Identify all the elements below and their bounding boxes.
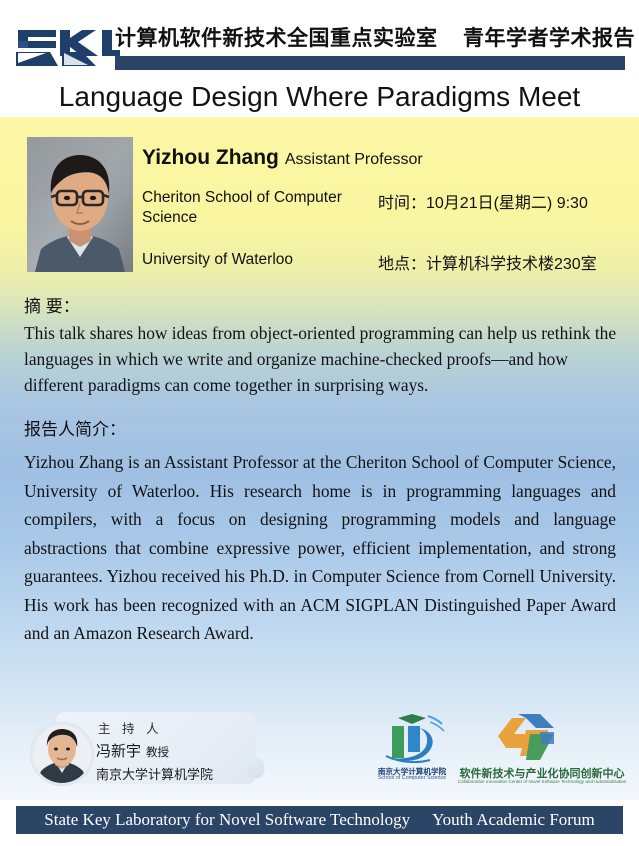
speaker-name-row: Yizhou ZhangAssistant Professor <box>142 146 622 170</box>
abstract-text: This talk shares how ideas from object-o… <box>24 320 620 398</box>
poster-header: 计算机软件新技术全国重点实验室 青年学者学术报告 <box>0 0 639 70</box>
nju-school-logo-icon <box>368 712 454 766</box>
talk-location: 地点：计算机科学技术楼230室 <box>378 250 639 274</box>
speaker-affiliation-line2: University of Waterloo <box>142 250 382 270</box>
footer-series-en: Youth Academic Forum <box>432 810 595 829</box>
footer-lab-name-en: State Key Laboratory for Novel Software … <box>44 810 410 829</box>
talk-time: 时间：10月21日(星期二) 9:30 <box>378 189 639 213</box>
bio-label: 报告人简介： <box>24 415 126 440</box>
cic-logo-caption-en: Collaborative Innovation Center of Novel… <box>452 779 632 784</box>
header-title-row: 计算机软件新技术全国重点实验室 青年学者学术报告 <box>115 20 635 54</box>
host-organization: 南京大学计算机学院 <box>96 764 213 783</box>
footer-bar: State Key Laboratory for Novel Software … <box>16 806 623 834</box>
nju-logo-caption-en: School of Computer Science <box>362 775 462 781</box>
abstract-label: 摘 要： <box>24 292 80 317</box>
page-title: Language Design Where Paradigms Meet <box>0 77 639 117</box>
host-avatar <box>31 723 93 785</box>
speaker-photo <box>27 137 133 272</box>
skl-logo-icon <box>16 22 120 68</box>
header-navy-bar <box>115 56 625 70</box>
lab-name-cn: 计算机软件新技术全国重点实验室 <box>115 22 438 52</box>
footer-text-row: State Key Laboratory for Novel Software … <box>44 810 594 830</box>
speaker-name: Yizhou Zhang <box>142 146 279 169</box>
speaker-role: Assistant Professor <box>285 151 423 168</box>
host-role-label: 主 持 人 <box>98 718 162 737</box>
bio-text: Yizhou Zhang is an Assistant Professor a… <box>24 448 616 648</box>
series-name-cn: 青年学者学术报告 <box>463 22 635 52</box>
host-name-row: 冯新宇教授 <box>96 740 169 761</box>
cic-logo-icon <box>496 710 558 764</box>
speaker-affiliation-line1: Cheriton School of Computer Science <box>142 188 382 228</box>
seminar-poster: 计算机软件新技术全国重点实验室 青年学者学术报告 Language Design… <box>0 0 639 846</box>
host-name: 冯新宇 <box>96 743 141 760</box>
host-title: 教授 <box>146 747 169 759</box>
